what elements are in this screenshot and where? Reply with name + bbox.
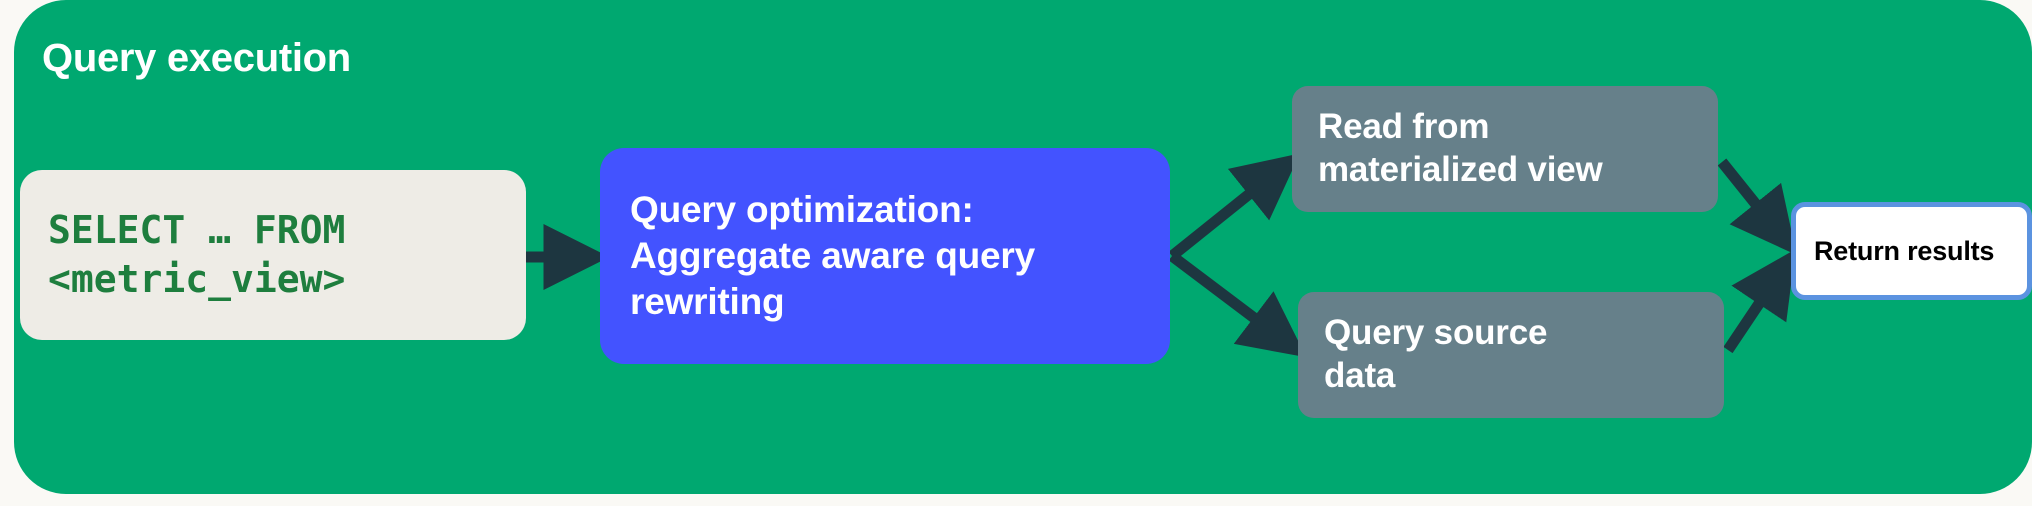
diagram-canvas: Query execution SELECT … FROM <metric_vi… [0, 0, 2032, 506]
query-source-data-box[interactable]: Query source data [1298, 292, 1724, 418]
panel-title: Query execution [42, 36, 351, 81]
materialized-view-line-2: materialized view [1318, 149, 1692, 192]
source-data-line-2: data [1324, 355, 1698, 398]
optimization-line-2: Aggregate aware query [630, 233, 1140, 279]
materialized-view-line-1: Read from [1318, 106, 1692, 149]
return-results-label: Return results [1814, 236, 2009, 267]
optimization-line-3: rewriting [630, 279, 1140, 325]
return-results-box[interactable]: Return results [1791, 202, 2032, 300]
query-optimization-box[interactable]: Query optimization: Aggregate aware quer… [600, 148, 1170, 364]
sql-line-1: SELECT … FROM [48, 206, 498, 255]
read-materialized-view-box[interactable]: Read from materialized view [1292, 86, 1718, 212]
sql-line-2: <metric_view> [48, 255, 498, 304]
source-data-line-1: Query source [1324, 312, 1698, 355]
optimization-line-1: Query optimization: [630, 187, 1140, 233]
sql-query-box[interactable]: SELECT … FROM <metric_view> [20, 170, 526, 340]
